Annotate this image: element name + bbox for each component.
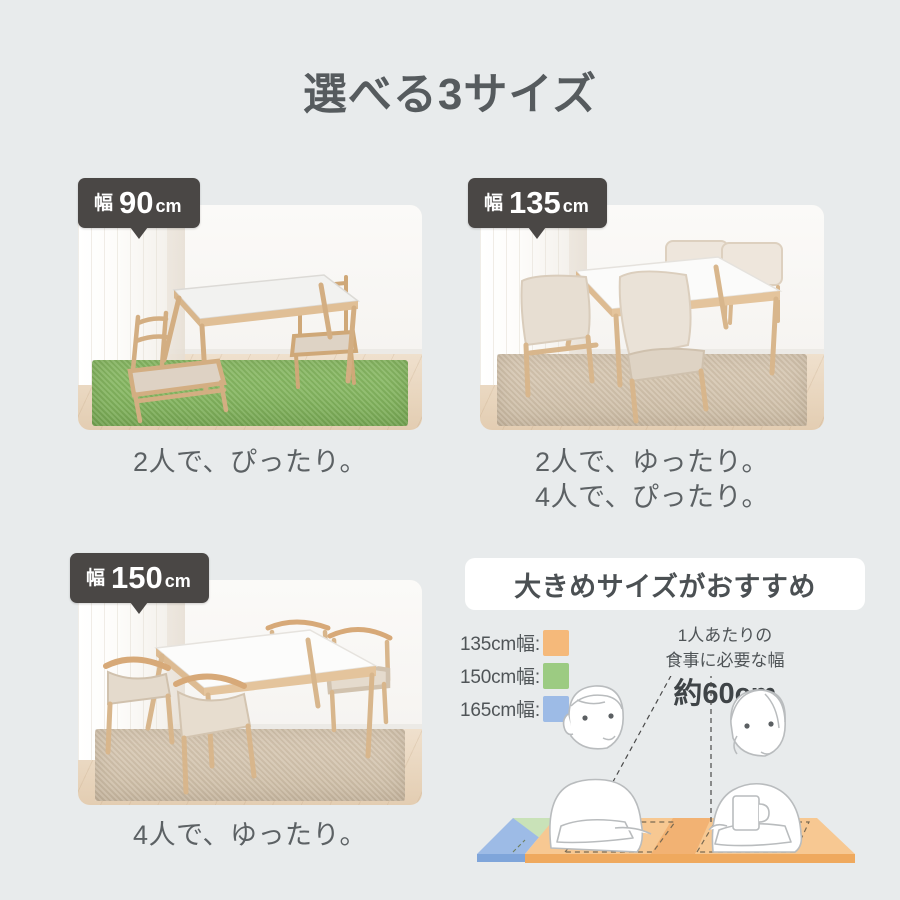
legend-swatch-135 [543, 630, 569, 656]
badge-unit: cm [563, 196, 589, 216]
badge-prefix: 幅 [86, 568, 105, 589]
caption-135cm: 2人で、ゆったり。 4人で、ぴったり。 [480, 445, 824, 514]
size-badge-90cm: 幅90cm [78, 178, 200, 228]
recommendation-header: 大きめサイズがおすすめ [465, 558, 865, 610]
infographic-page: 選べる3サイズ [0, 0, 900, 900]
size-badge-150cm: 幅150cm [70, 553, 209, 603]
note-line-2: 食事に必要な幅 [625, 649, 825, 674]
dining-width-illustration [465, 676, 865, 876]
person-right [709, 690, 801, 852]
badge-number: 90 [119, 185, 153, 220]
badge-prefix: 幅 [484, 193, 503, 214]
badge-number: 150 [111, 560, 163, 595]
badge-pointer [130, 227, 148, 239]
badge-unit: cm [156, 196, 182, 216]
legend-label-135: 135cm幅: [460, 629, 540, 656]
person-left [550, 686, 651, 852]
caption-line-1: 2人で、ゆったり。 [480, 445, 824, 480]
badge-number: 135 [509, 185, 561, 220]
note-line-1: 1人あたりの [625, 624, 825, 649]
badge-prefix: 幅 [94, 193, 113, 214]
size-badge-135cm: 幅135cm [468, 178, 607, 228]
badge-unit: cm [165, 571, 191, 591]
caption-150cm: 4人で、ゆったり。 [78, 818, 422, 853]
page-title: 選べる3サイズ [0, 58, 900, 122]
badge-pointer [130, 602, 148, 614]
caption-line-2: 4人で、ぴったり。 [480, 480, 824, 515]
badge-pointer [528, 227, 546, 239]
recommendation-panel: 大きめサイズがおすすめ 135cm幅: 150cm幅: 165cm幅: 1人あた… [465, 558, 865, 878]
legend-item-135: 135cm幅: [460, 626, 569, 659]
caption-90cm: 2人で、ぴったり。 [78, 445, 422, 480]
